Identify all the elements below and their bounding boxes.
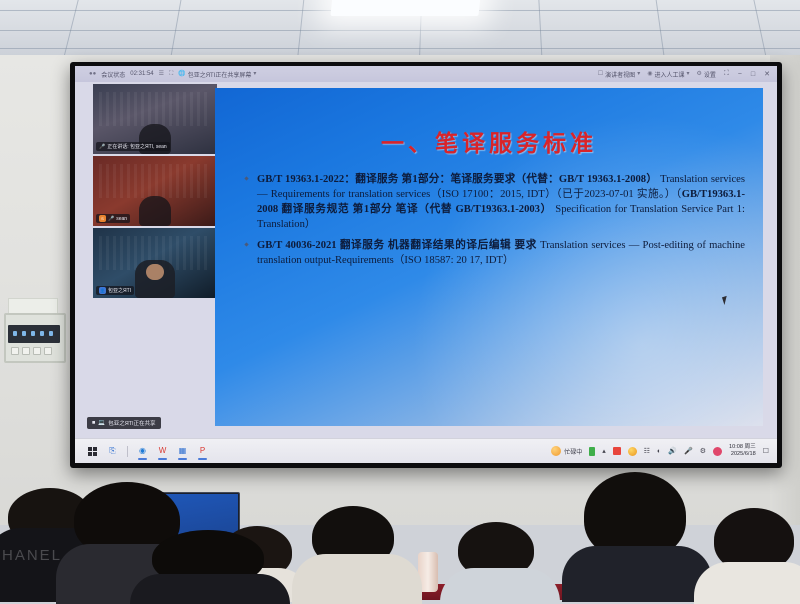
participant-tile[interactable]: S 🎤 sean	[93, 156, 217, 226]
classroom-scene: ●● 会议状态 02:31:54 ☰ ⛶ 🌐 包亚之ЯTI正在共享屏幕 ▾ ☐ …	[0, 0, 800, 600]
slide-bullet: GB/T 19363.1-2022：翻译服务 第1部分：笔译服务要求（代替：GB…	[243, 172, 745, 232]
meeting-logo-icon: ●●	[89, 71, 96, 77]
bullet-run: GB/T 40036-2021 翻译服务 机器翻译结果的译后编辑 要求	[257, 240, 537, 251]
bullet-run: GB/T 19363.1-2022：翻译服务 第1部分：笔译服务要求（代替：GB…	[257, 174, 657, 185]
view-mode-label: 演讲者视图	[605, 70, 635, 79]
ceiling-light	[330, 0, 481, 16]
screen-content: ●● 会议状态 02:31:54 ☰ ⛶ 🌐 包亚之ЯTI正在共享屏幕 ▾ ☐ …	[75, 66, 777, 463]
participant-tiles: 🎤 正在讲话: 包亚之ЯTI, sean S 🎤 sean	[93, 84, 217, 300]
sharing-notice: 🌐 包亚之ЯTI正在共享屏幕 ▾	[178, 70, 256, 79]
battery-icon[interactable]	[589, 447, 595, 456]
slide-body: GB/T 19363.1-2022：翻译服务 第1部分：笔译服务要求（代替：GB…	[243, 172, 745, 274]
mic-icon: 🎤	[99, 144, 105, 150]
taskbar-clock[interactable]: 10:08 周三 2025/6/18	[729, 444, 756, 458]
chevron-up-icon[interactable]: ▴	[602, 448, 606, 455]
notification-icon[interactable]: ☐	[763, 448, 769, 455]
avatar: 👤	[99, 287, 106, 294]
tile-audience-blur	[99, 92, 211, 126]
sharing-notice-label: 包亚之ЯTI正在共享屏幕	[188, 70, 252, 79]
student	[440, 514, 560, 600]
stop-share-icon[interactable]: ■	[92, 420, 95, 426]
chevron-down-icon[interactable]: ▾	[253, 71, 256, 77]
tile-person-silhouette	[135, 260, 175, 298]
wifi-icon[interactable]: ◐	[657, 448, 661, 455]
settings-button[interactable]: ⚙ 设置	[696, 70, 715, 79]
student	[700, 504, 800, 600]
tile-badge: S 🎤 sean	[96, 214, 130, 223]
sogou-input-icon[interactable]	[628, 447, 637, 456]
close-icon[interactable]: ✕	[763, 70, 771, 78]
network-icon[interactable]: ☷	[644, 448, 650, 455]
tile-label: sean	[116, 216, 127, 222]
meeting-toolbar: ●● 会议状态 02:31:54 ☰ ⛶ 🌐 包亚之ЯTI正在共享屏幕 ▾ ☐ …	[75, 66, 777, 82]
view-mode-button[interactable]: ☐ 演讲者视图 ▾	[598, 70, 640, 79]
ai-icon: ◉	[647, 71, 652, 77]
ceiling	[0, 0, 800, 62]
clock-time: 10:08 周三	[729, 444, 756, 451]
gear-icon: ⚙	[696, 71, 701, 77]
av-control-panel	[4, 313, 66, 363]
tile-audience-blur	[99, 164, 211, 198]
shared-slide: 一、笔译服务标准 GB/T 19363.1-2022：翻译服务 第1部分：笔译服…	[215, 88, 763, 426]
bluetooth-icon[interactable]: ⚙	[700, 448, 706, 455]
av-panel-buttons	[9, 346, 61, 355]
tile-person-silhouette	[139, 196, 171, 226]
globe-icon: 🌐	[178, 71, 185, 77]
meeting-timer: 02:31:54	[130, 71, 153, 77]
bullet-marker-icon	[244, 176, 248, 180]
share-screen-icon[interactable]: ⛶	[169, 71, 173, 77]
audience: HANEL	[0, 465, 800, 600]
search-icon[interactable]: ⎘	[107, 446, 118, 457]
wall-display: ●● 会议状态 02:31:54 ☰ ⛶ 🌐 包亚之ЯTI正在共享屏幕 ▾ ☐ …	[70, 62, 782, 468]
chevron-down-icon[interactable]: ▾	[637, 71, 640, 77]
share-status-pill[interactable]: ■ 💻 包亚之ЯTI正在共享	[87, 417, 161, 429]
microphone-icon[interactable]: 🎤	[684, 448, 693, 455]
status-label: 忙碌中	[564, 447, 582, 456]
taskbar-divider	[127, 446, 128, 457]
share-status-label: 包亚之ЯTI正在共享	[108, 419, 155, 427]
recording-icon[interactable]	[613, 447, 621, 455]
minimize-icon[interactable]: −	[737, 71, 743, 78]
clock-date: 2025/6/18	[729, 451, 756, 458]
ai-assistant-button[interactable]: ◉ 进入人工课 ▾	[647, 70, 689, 79]
student	[292, 502, 422, 600]
windows-start-icon[interactable]	[87, 446, 98, 457]
participant-tile[interactable]: 👤 包亚之ЯTI	[93, 228, 217, 298]
tile-face	[146, 264, 164, 280]
slide-title: 一、笔译服务标准	[215, 124, 763, 158]
student	[560, 472, 710, 600]
meeting-status-label: 会议状态	[101, 70, 125, 79]
volume-icon[interactable]: 🔊	[668, 448, 677, 455]
tile-badge: 👤 包亚之ЯTI	[96, 286, 134, 295]
windows-taskbar: ⎘ ◉ W ▦ P 忙碌中 ▴ ☷ ◐	[75, 438, 777, 463]
layout-icon: ☐	[598, 71, 603, 77]
tile-label: 包亚之ЯTI	[108, 287, 131, 294]
mic-icon: 🎤	[108, 216, 114, 222]
av-panel-strip	[8, 325, 60, 343]
edge-browser-icon[interactable]: ◉	[137, 446, 148, 457]
wps-office-icon[interactable]: ▦	[177, 446, 188, 457]
meeting-app-icon[interactable]	[713, 447, 722, 456]
status-badge[interactable]: 忙碌中	[551, 446, 582, 456]
slide-bullet: GB/T 40036-2021 翻译服务 机器翻译结果的译后编辑 要求 Tran…	[243, 238, 745, 268]
maximize-icon[interactable]: □	[750, 71, 756, 78]
chevron-down-icon[interactable]: ▾	[686, 71, 689, 77]
avatar	[551, 446, 561, 456]
wps-presentation-icon[interactable]: P	[197, 446, 208, 457]
signal-bars-icon[interactable]: ☰	[159, 71, 164, 77]
participant-tile[interactable]: 🎤 正在讲话: 包亚之ЯTI, sean	[93, 84, 217, 154]
settings-label: 设置	[704, 70, 716, 79]
shirt-text: HANEL	[2, 547, 62, 564]
bullet-marker-icon	[244, 243, 248, 247]
student	[130, 530, 290, 600]
fullscreen-icon[interactable]: ⛶	[723, 70, 730, 78]
ai-assistant-label: 进入人工课	[654, 70, 684, 79]
tile-badge: 🎤 正在讲话: 包亚之ЯTI, sean	[96, 142, 170, 151]
wps-writer-icon[interactable]: W	[157, 446, 168, 457]
tile-label: 正在讲话: 包亚之ЯTI, sean	[107, 143, 166, 150]
monitor-icon: 💻	[98, 420, 105, 426]
avatar: S	[99, 215, 106, 222]
